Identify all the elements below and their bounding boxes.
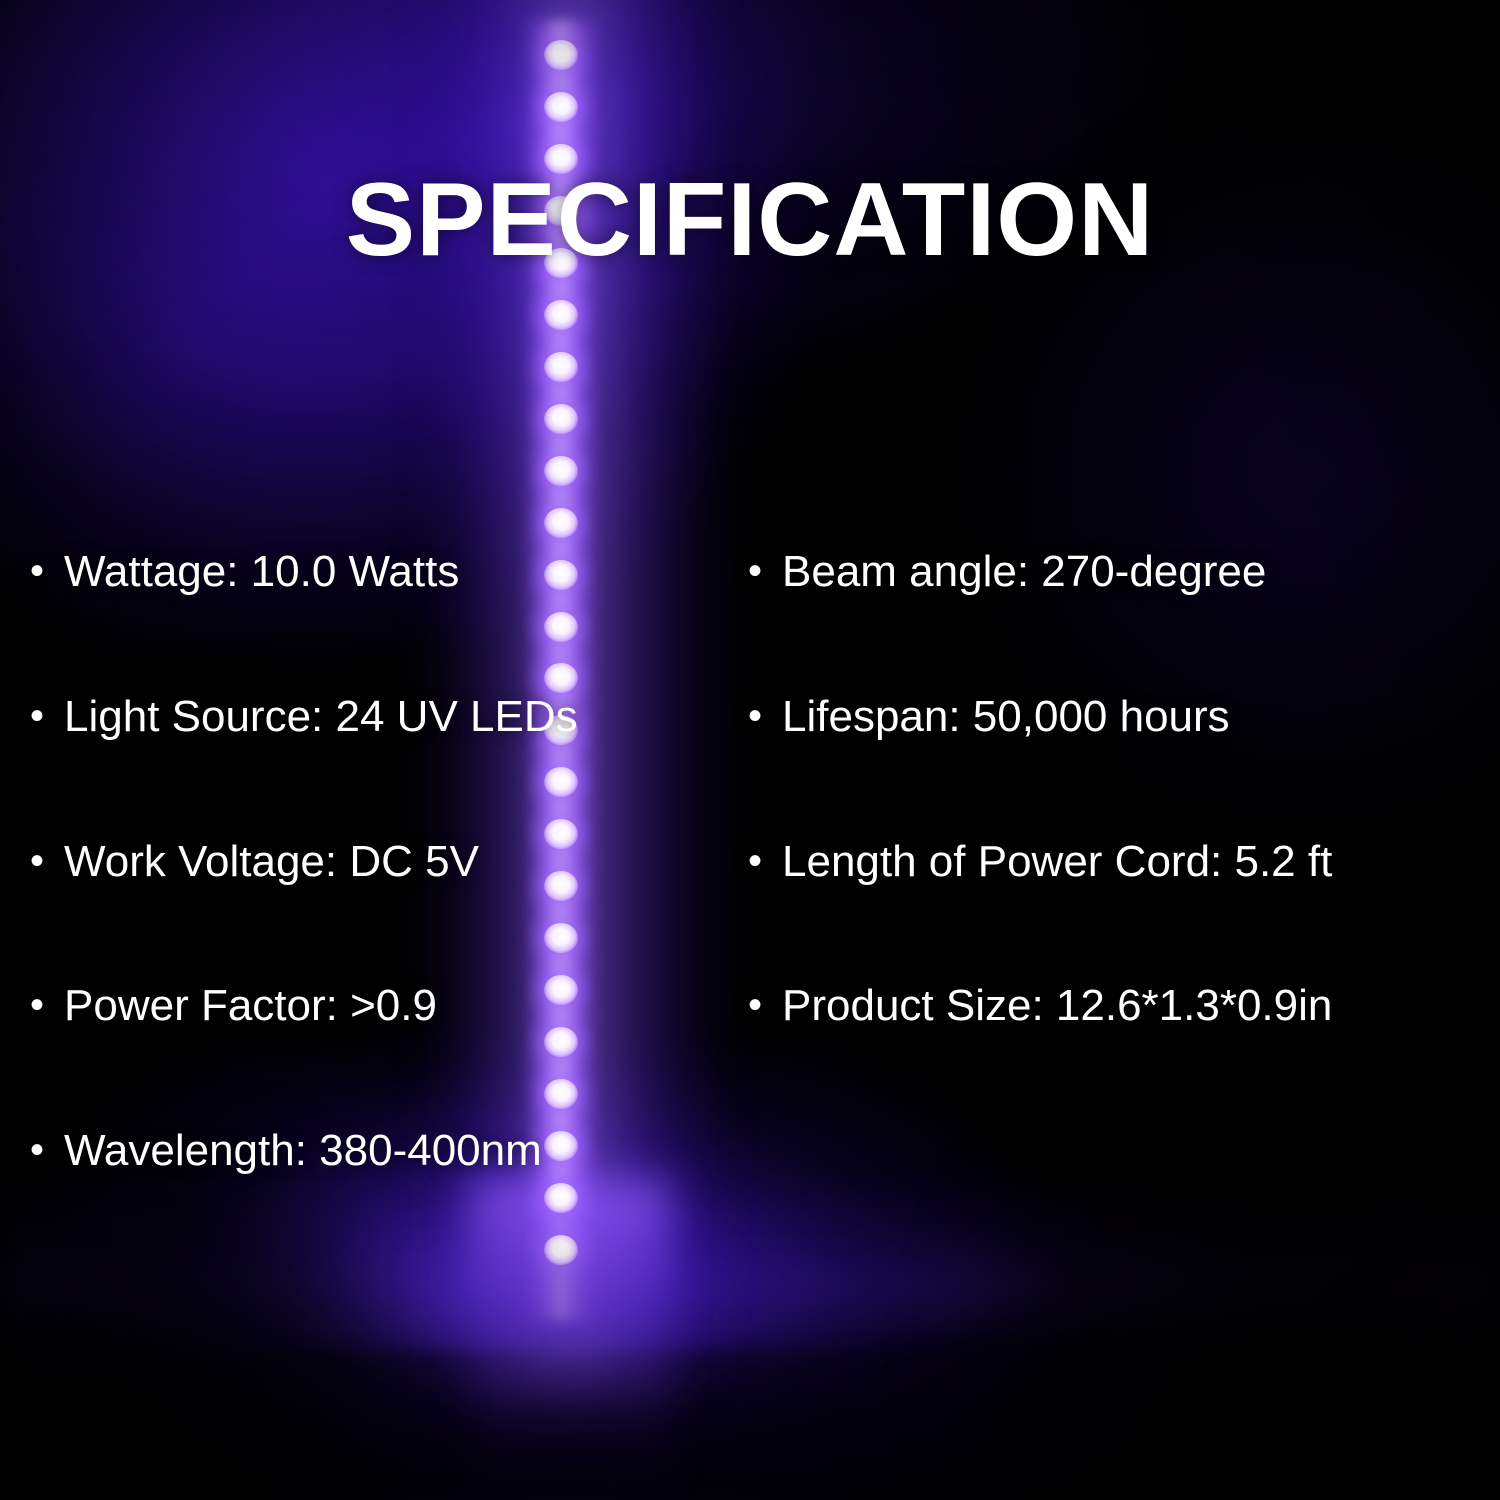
- spec-text: Power Factor: >0.9: [64, 980, 437, 1033]
- spec-text: Work Voltage: DC 5V: [64, 836, 479, 889]
- bullet-icon: •: [30, 546, 64, 596]
- list-item: • Work Voltage: DC 5V: [30, 836, 720, 889]
- list-item: • Beam angle: 270-degree: [748, 546, 1488, 599]
- page-title: SPECIFICATION: [0, 168, 1500, 272]
- list-item: • Wattage: 10.0 Watts: [30, 546, 720, 599]
- list-item: • Product Size: 12.6*1.3*0.9in: [748, 980, 1488, 1033]
- list-item: • Power Factor: >0.9: [30, 980, 720, 1033]
- list-item: • Lifespan: 50,000 hours: [748, 691, 1488, 744]
- bullet-icon: •: [748, 980, 782, 1030]
- list-item: • Light Source: 24 UV LEDs: [30, 691, 720, 744]
- spec-text: Wavelength: 380-400nm: [64, 1125, 542, 1178]
- list-item: • Length of Power Cord: 5.2 ft: [748, 836, 1488, 889]
- bullet-icon: •: [30, 980, 64, 1030]
- bullet-icon: •: [748, 546, 782, 596]
- spec-list-right: • Beam angle: 270-degree • Lifespan: 50,…: [748, 546, 1488, 1033]
- spec-text: Length of Power Cord: 5.2 ft: [782, 836, 1332, 889]
- spec-text: Product Size: 12.6*1.3*0.9in: [782, 980, 1332, 1033]
- specification-overlay: SPECIFICATION • Wattage: 10.0 Watts • Li…: [0, 0, 1500, 1500]
- spec-text: Wattage: 10.0 Watts: [64, 546, 459, 599]
- bullet-icon: •: [30, 836, 64, 886]
- list-item: • Wavelength: 380-400nm: [30, 1125, 720, 1178]
- spec-text: Lifespan: 50,000 hours: [782, 691, 1230, 744]
- bullet-icon: •: [30, 1125, 64, 1175]
- bullet-icon: •: [748, 836, 782, 886]
- bullet-icon: •: [748, 691, 782, 741]
- bullet-icon: •: [30, 691, 64, 741]
- spec-list-left: • Wattage: 10.0 Watts • Light Source: 24…: [30, 546, 720, 1178]
- spec-text: Beam angle: 270-degree: [782, 546, 1266, 599]
- spec-text: Light Source: 24 UV LEDs: [64, 691, 578, 744]
- product-photo-specification-image: SPECIFICATION • Wattage: 10.0 Watts • Li…: [0, 0, 1500, 1500]
